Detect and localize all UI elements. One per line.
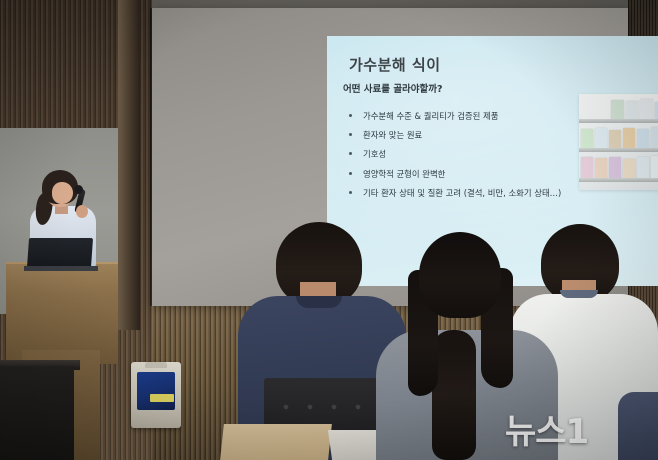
slide-title: 가수분해 식이 — [349, 54, 441, 75]
bullet-text: 가수분해 수준 & 퀄리티가 검증된 제품 — [363, 110, 498, 122]
bullet-dot-icon — [349, 172, 352, 175]
list-item: 영양학적 균형이 완벽한 — [349, 168, 561, 180]
laptop-screen — [27, 238, 93, 268]
aed-wall-unit — [131, 362, 181, 428]
bullet-text: 환자와 맞는 원료 — [363, 129, 422, 141]
chair-perforations — [280, 404, 380, 410]
slide-bullet-list: 가수분해 수준 & 퀄리티가 검증된 제품 환자와 맞는 원료 기호성 영양학적… — [349, 110, 561, 206]
podium — [6, 262, 118, 364]
list-item: 기호성 — [349, 148, 561, 160]
bullet-text: 영양학적 균형이 완벽한 — [363, 168, 445, 180]
attendee-hair-ponytail — [432, 330, 476, 460]
bullet-dot-icon — [349, 191, 352, 194]
slide-subtitle: 어떤 사료를 골라야할까? — [343, 81, 443, 95]
foreground-table — [0, 366, 74, 460]
attendee-lanyard — [560, 290, 598, 298]
list-item: 환자와 맞는 원료 — [349, 129, 561, 141]
photograph-scene: 가수분해 식이 어떤 사료를 골라야할까? 가수분해 수준 & 퀄리티가 검증된… — [0, 0, 658, 460]
bullet-text: 기호성 — [363, 148, 386, 160]
bullet-dot-icon — [349, 133, 352, 136]
attendee-collar — [296, 296, 342, 308]
presenter-face — [52, 182, 73, 204]
attendee-edge-right — [618, 392, 658, 460]
aed-panel — [137, 372, 175, 410]
bullet-dot-icon — [349, 152, 352, 155]
left-wall-edge — [118, 0, 140, 330]
aed-label-strip — [150, 394, 174, 402]
bullet-dot-icon — [349, 114, 352, 117]
paper-sheet — [220, 424, 332, 460]
attendee-head — [419, 232, 501, 318]
list-item: 기타 환자 상태 및 질환 고려 (결석, 비만, 소화기 상태…) — [349, 187, 561, 199]
microphone-head-icon — [74, 185, 83, 194]
presenter-hand — [76, 205, 88, 218]
laptop-base — [24, 266, 98, 271]
slide-shelving-photo — [579, 94, 658, 190]
bullet-text: 기타 환자 상태 및 질환 고려 (결석, 비만, 소화기 상태…) — [363, 187, 561, 199]
list-item: 가수분해 수준 & 퀄리티가 검증된 제품 — [349, 110, 561, 122]
aed-handle — [145, 362, 167, 368]
news-watermark: 뉴스1 — [505, 404, 588, 453]
